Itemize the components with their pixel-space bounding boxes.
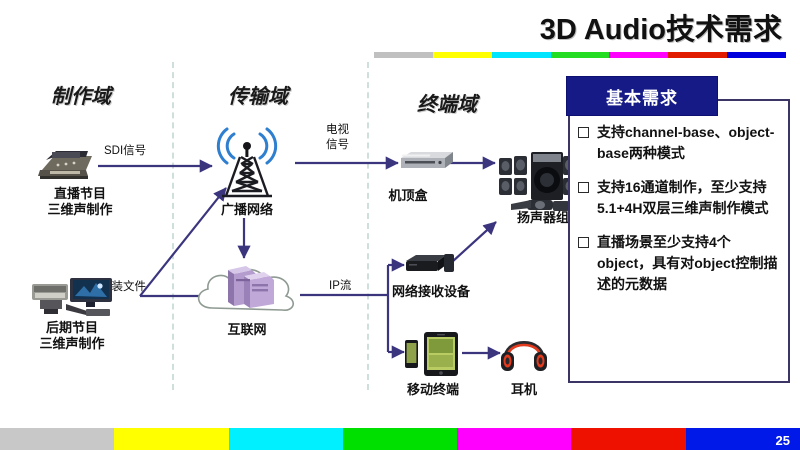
domain-heading-transmission: 传输域 <box>228 80 288 109</box>
cloud-servers-icon <box>190 258 308 320</box>
footer-color-bar <box>0 428 800 450</box>
node-label-post-production-1: 后期节目 <box>24 320 120 336</box>
slide-canvas: 3D Audio技术需求 制作域 传输域 终端域 <box>0 0 800 450</box>
list-item: 直播场景至少支持4个object，具有对object控制描述的元数据 <box>578 232 783 295</box>
network-receiver-icon <box>404 252 458 278</box>
bullet-square-icon <box>578 237 589 248</box>
requirements-panel-title: 基本需求 <box>566 76 718 116</box>
domain-divider-2 <box>367 62 369 390</box>
set-top-box-icon <box>397 150 455 172</box>
domain-heading-terminal: 终端域 <box>417 88 477 117</box>
node-label-mobile-terminal: 移动终端 <box>382 382 484 398</box>
domain-divider-1 <box>172 62 174 390</box>
node-label-broadcast-network: 广播网络 <box>199 202 295 218</box>
edge-label-tv-signal-2: 信号 <box>326 138 349 152</box>
bullet-square-icon <box>578 127 589 138</box>
node-label-internet: 互联网 <box>208 322 286 338</box>
mobile-devices-icon <box>404 330 462 378</box>
requirements-bullet-list: 支持channel-base、object-base两种模式 支持16通道制作，… <box>578 122 783 308</box>
node-label-set-top-box: 机顶盒 <box>368 188 448 204</box>
bullet-text: 支持channel-base、object-base两种模式 <box>597 122 783 164</box>
bullet-square-icon <box>578 182 589 193</box>
headphones-icon <box>500 330 548 374</box>
node-label-network-receiver: 网络接收设备 <box>375 284 487 300</box>
edge-label-ip-stream: IP流 <box>329 279 351 293</box>
mixing-console-icon <box>36 148 98 182</box>
node-label-post-production-2: 三维声制作 <box>18 336 126 352</box>
bullet-text: 支持16通道制作，至少支持5.1+4H双层三维声制作模式 <box>597 177 783 219</box>
bullet-text: 直播场景至少支持4个object，具有对object控制描述的元数据 <box>597 232 783 295</box>
node-label-live-production-1: 直播节目 <box>34 186 126 202</box>
node-label-live-production-2: 三维声制作 <box>28 202 132 218</box>
edge-label-sdi: SDI信号 <box>104 144 146 158</box>
title-color-bar <box>374 52 786 58</box>
broadcast-tower-icon <box>212 120 282 198</box>
domain-heading-production: 制作域 <box>51 80 111 109</box>
list-item: 支持16通道制作，至少支持5.1+4H双层三维声制作模式 <box>578 177 783 219</box>
page-number: 25 <box>776 433 790 448</box>
camera-monitor-icon <box>30 276 116 320</box>
node-label-headphone: 耳机 <box>492 382 556 398</box>
edge-label-tv-signal-1: 电视 <box>326 123 349 137</box>
list-item: 支持channel-base、object-base两种模式 <box>578 122 783 164</box>
page-title: 3D Audio技术需求 <box>540 6 782 48</box>
